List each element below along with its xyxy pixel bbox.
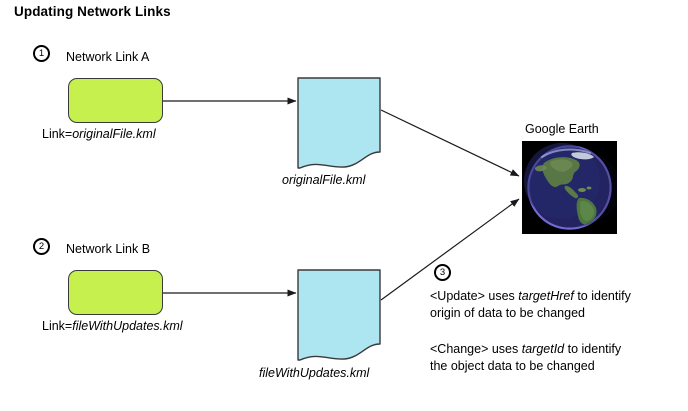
link-file-b: fileWithUpdates.kml xyxy=(72,319,182,333)
document-b-label: fileWithUpdates.kml xyxy=(259,366,369,380)
network-link-a-label: Network Link A xyxy=(66,50,149,64)
note-line3-pre: <Change> uses xyxy=(430,342,522,356)
network-link-b-label: Network Link B xyxy=(66,242,150,256)
document-shape-originalfile xyxy=(298,78,380,168)
link-file-a: originalFile.kml xyxy=(72,127,155,141)
step-circle-1: 1 xyxy=(33,45,50,62)
link-prefix-a: Link= xyxy=(42,127,72,141)
network-link-b-href-label: Link=fileWithUpdates.kml xyxy=(42,319,183,333)
network-link-b-box[interactable] xyxy=(68,270,163,315)
note-update-line: <Update> uses targetHref to identify xyxy=(430,288,631,304)
network-link-a-href-label: Link=originalFile.kml xyxy=(42,127,156,141)
note-update-line2: origin of data to be changed xyxy=(430,305,585,321)
note-line1-post: to identify xyxy=(574,289,631,303)
network-link-a-box[interactable] xyxy=(68,78,163,123)
diagram-canvas: Updating Network Links 1 Network Link A … xyxy=(0,0,688,411)
step-circle-2: 2 xyxy=(33,238,50,255)
note-change-line2: the object data to be changed xyxy=(430,358,595,374)
note-line1-pre: <Update> uses xyxy=(430,289,518,303)
note-line1-em: targetHref xyxy=(518,289,574,303)
arrow-docB-to-earth xyxy=(381,199,519,300)
document-shape-filewithupdates xyxy=(298,270,380,360)
page-title: Updating Network Links xyxy=(14,4,171,19)
note-line3-post: to identify xyxy=(564,342,621,356)
link-prefix-b: Link= xyxy=(42,319,72,333)
note-line3-em: targetId xyxy=(522,342,564,356)
globe-icon xyxy=(522,141,617,234)
google-earth-image[interactable] xyxy=(522,141,617,234)
note-change-line: <Change> uses targetId to identify xyxy=(430,341,621,357)
arrow-docA-to-earth xyxy=(381,110,519,176)
document-a-label: originalFile.kml xyxy=(282,173,365,187)
step-circle-3: 3 xyxy=(434,264,451,281)
google-earth-title: Google Earth xyxy=(525,122,599,136)
